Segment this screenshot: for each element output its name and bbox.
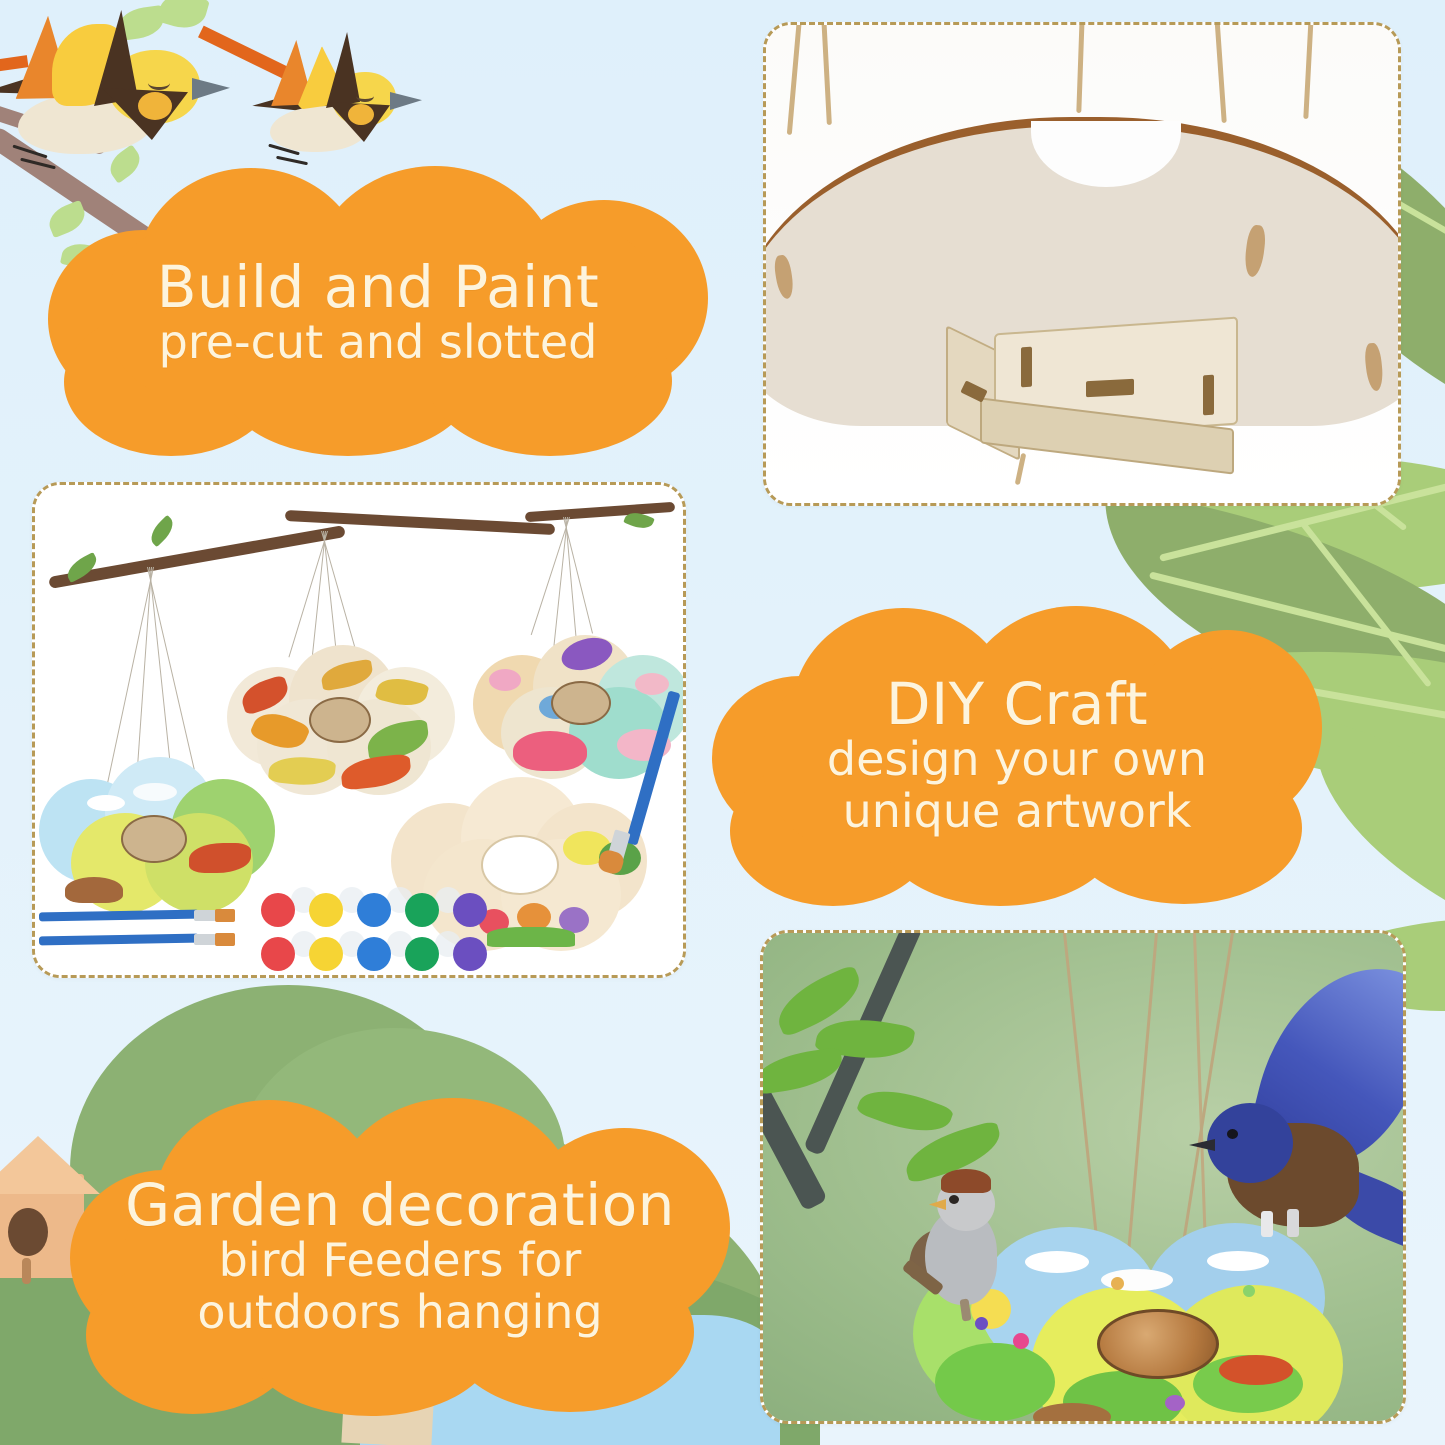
bird-wing <box>94 10 138 106</box>
bird-wing <box>326 32 360 108</box>
seed-bowl <box>1097 1309 1219 1379</box>
painted-bird <box>1219 1355 1293 1385</box>
feature-callout-garden-decoration: Garden decoration bird Feeders for outdo… <box>70 1098 730 1416</box>
bird-belly <box>270 106 368 152</box>
precut-slot <box>1203 375 1214 416</box>
paint-pot-green <box>405 937 439 971</box>
paint-pot-red <box>261 893 295 927</box>
bird-beak <box>192 78 230 100</box>
callout-subline-2: outdoors hanging <box>197 1287 602 1339</box>
bird-leg <box>12 145 47 159</box>
paint-pot-red <box>261 937 295 971</box>
bird-belly <box>18 92 153 154</box>
bird-wing <box>16 13 81 104</box>
painted-dot <box>1243 1285 1255 1297</box>
bird-wing <box>296 46 350 110</box>
bird-eye <box>949 1195 959 1204</box>
painted-nest <box>65 877 123 903</box>
photo-assembly-closeup <box>763 22 1401 506</box>
illustrated-bird-icon <box>196 28 396 158</box>
illustrated-bird-icon <box>0 10 220 175</box>
callout-subline-1: design your own <box>827 734 1207 786</box>
brush-bristles <box>215 909 235 922</box>
bird-tail <box>198 26 290 80</box>
feeder-center-hole <box>121 815 187 863</box>
brush-ferrule <box>194 910 216 921</box>
bird-eye <box>1227 1129 1238 1139</box>
brush-handle <box>625 690 680 845</box>
painted-shape <box>635 673 669 695</box>
leaf-sprout <box>156 0 210 34</box>
brush-ferrule <box>194 934 216 945</box>
brush-handle <box>39 934 199 946</box>
bird-tail <box>0 55 28 77</box>
bird-leg <box>276 156 308 166</box>
feature-callout-build-and-paint: Build and Paint pre-cut and slotted <box>48 166 708 456</box>
photo-birds-in-garden <box>760 930 1406 1424</box>
precut-slot <box>1086 379 1134 398</box>
callout-headline: DIY Craft <box>886 675 1148 734</box>
callout-headline: Garden decoration <box>125 1176 675 1235</box>
painted-cloud <box>1025 1251 1089 1273</box>
paint-pot-purple <box>453 937 487 971</box>
paintbrush-1 <box>39 905 259 931</box>
bird-eye <box>148 76 170 90</box>
callout-headline: Build and Paint <box>157 258 600 317</box>
bird-wing <box>328 102 390 142</box>
painted-nest <box>1033 1403 1111 1424</box>
bird-cheek <box>138 92 172 120</box>
feeder-center-hole <box>481 835 559 895</box>
callout-subline: pre-cut and slotted <box>159 317 598 369</box>
painted-dot <box>1165 1395 1185 1411</box>
bird-leg <box>1261 1211 1273 1237</box>
paint-pot-tray <box>261 887 491 977</box>
infographic-canvas: Build and Paint pre-cut and slotted DIY … <box>0 0 1445 1445</box>
bird-eye <box>356 90 374 102</box>
bird-beak <box>1189 1139 1215 1151</box>
paintbrush-in-use <box>583 699 686 899</box>
bird-head <box>1207 1103 1293 1183</box>
painted-dot <box>1111 1277 1124 1290</box>
bird-leg <box>268 144 300 156</box>
painted-grass <box>487 927 575 947</box>
bird-beak <box>390 92 422 110</box>
precut-slot <box>1021 347 1032 388</box>
painted-cloud <box>87 795 125 811</box>
paint-pot-purple <box>453 893 487 927</box>
bird-wing <box>102 88 188 140</box>
feeder-center-hole <box>309 697 371 743</box>
bird-head <box>108 50 200 124</box>
painted-dot <box>1013 1333 1029 1349</box>
bird-wing <box>0 56 104 108</box>
birdhouse-entrance-hole <box>8 1208 48 1256</box>
bird-leg <box>1287 1209 1299 1237</box>
painted-flower <box>513 731 587 771</box>
bird-cap <box>941 1169 991 1193</box>
branch-shape <box>0 95 109 156</box>
birdhouse-perch <box>22 1258 31 1284</box>
paint-pot-yellow <box>309 893 343 927</box>
bluebird <box>1183 953 1406 1253</box>
feature-callout-diy-craft: DIY Craft design your own unique artwork <box>712 606 1322 906</box>
paint-pot-yellow <box>309 937 343 971</box>
callout-subline-2: unique artwork <box>843 786 1192 838</box>
paint-pot-blue <box>357 937 391 971</box>
paint-pot-green <box>405 893 439 927</box>
bird-wing <box>271 38 319 109</box>
leaf-sprout <box>116 5 166 41</box>
bird-cheek <box>348 104 374 125</box>
bird-head <box>332 72 396 126</box>
painted-feeder-garden <box>32 757 279 917</box>
painted-cloud <box>133 783 177 801</box>
paintbrush-2 <box>39 929 259 955</box>
photo-kit-contents <box>32 482 686 978</box>
painted-shape <box>489 669 521 691</box>
paint-pot-blue <box>357 893 391 927</box>
brush-bristles <box>215 933 235 946</box>
brush-handle <box>39 910 199 922</box>
sparrow-bird <box>913 1163 1033 1333</box>
bird-wing <box>251 81 341 121</box>
painted-cloud <box>1207 1251 1269 1271</box>
bird-wing <box>52 24 126 106</box>
callout-subline-1: bird Feeders for <box>219 1235 582 1287</box>
